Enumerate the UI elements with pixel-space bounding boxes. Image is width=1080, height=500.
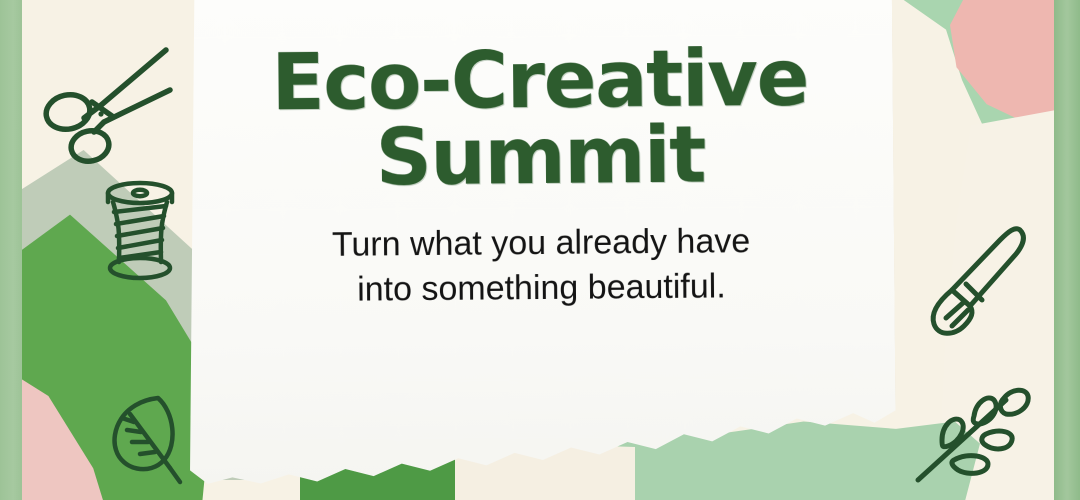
thread-spool-icon [92, 176, 188, 288]
subtitle-line-1: Turn what you already have [332, 222, 751, 264]
leaf-icon [100, 388, 192, 486]
background-right-edge-strip [1054, 0, 1080, 500]
title-line-2: Summit [375, 110, 705, 203]
page-subtitle: Turn what you already have into somethin… [332, 219, 751, 312]
page-title: Eco-Creative Summit [271, 42, 809, 198]
eco-creative-summit-poster: Eco-Creative Summit Turn what you alread… [0, 0, 1080, 500]
headline-card: Eco-Creative Summit Turn what you alread… [186, 0, 896, 485]
scissors-icon [38, 36, 178, 166]
paintbrush-icon [922, 222, 1036, 344]
subtitle-line-2: into something beautiful. [357, 268, 726, 309]
card-content: Eco-Creative Summit Turn what you alread… [186, 0, 896, 485]
botanical-sprig-icon [908, 382, 1038, 490]
background-left-edge-strip [0, 0, 22, 500]
